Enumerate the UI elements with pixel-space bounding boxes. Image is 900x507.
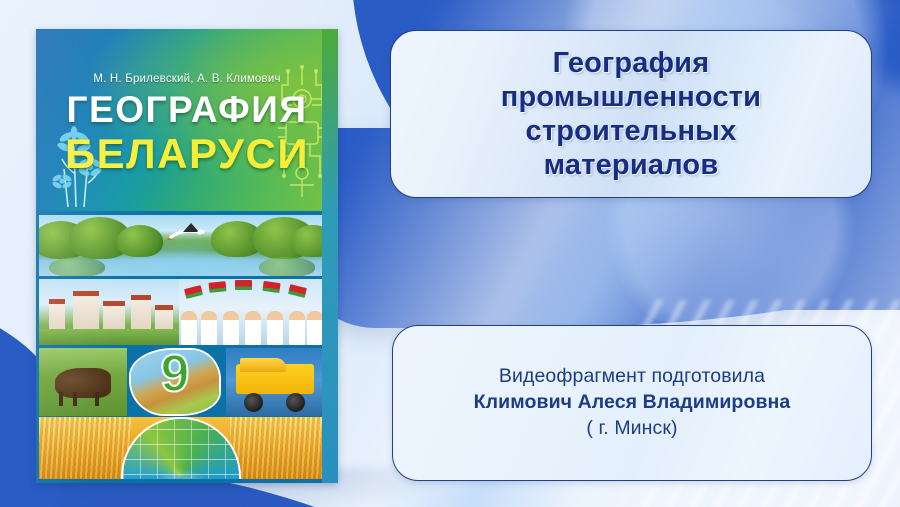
title-line-3: строительных <box>526 114 737 148</box>
title-panel: География промышленности строительных ма… <box>390 30 872 198</box>
credits-line-1: Видеофрагмент подготовила <box>499 364 765 390</box>
cover-photo-bison-map-truck: 9 <box>39 348 322 416</box>
book-spine-edge <box>322 29 338 483</box>
folk-dancers-illustration <box>179 279 322 345</box>
book-authors: М. Н. Брилевский, А. В. Климович <box>36 73 338 85</box>
belarus-map-illustration: 9 <box>123 348 227 416</box>
book-cover-header: М. Н. Брилевский, А. В. Климович ГЕОГРАФ… <box>36 29 338 211</box>
wheat-field-left <box>39 417 131 479</box>
cover-photo-globe-and-wheat <box>39 417 322 479</box>
book-title-line2: БЕЛАРУСИ <box>36 130 338 178</box>
title-line-2: промышленности <box>501 80 761 114</box>
book-title-line1: ГЕОГРАФИЯ <box>36 89 338 131</box>
globe-icon <box>123 419 239 479</box>
credits-panel: Видеофрагмент подготовила Климович Алеся… <box>392 325 872 481</box>
belaz-truck-illustration <box>226 348 322 416</box>
credits-city: ( г. Минск) <box>586 416 677 442</box>
stork-icon <box>167 220 213 246</box>
bison-illustration <box>39 348 127 416</box>
title-line-4: материалов <box>544 148 719 182</box>
title-line-1: География <box>553 46 710 80</box>
mir-castle-illustration <box>39 279 179 345</box>
cover-photo-castle-and-dancers <box>39 279 322 345</box>
wheat-field-right <box>230 417 322 479</box>
credits-author-name: Климович Алеся Владимировна <box>474 390 791 416</box>
grade-number: 9 <box>123 348 227 400</box>
presentation-slide: М. Н. Брилевский, А. В. Климович ГЕОГРАФ… <box>0 0 900 507</box>
cover-photo-landscape <box>39 215 322 276</box>
textbook-cover-image: М. Н. Брилевский, А. В. Климович ГЕОГРАФ… <box>36 29 338 483</box>
